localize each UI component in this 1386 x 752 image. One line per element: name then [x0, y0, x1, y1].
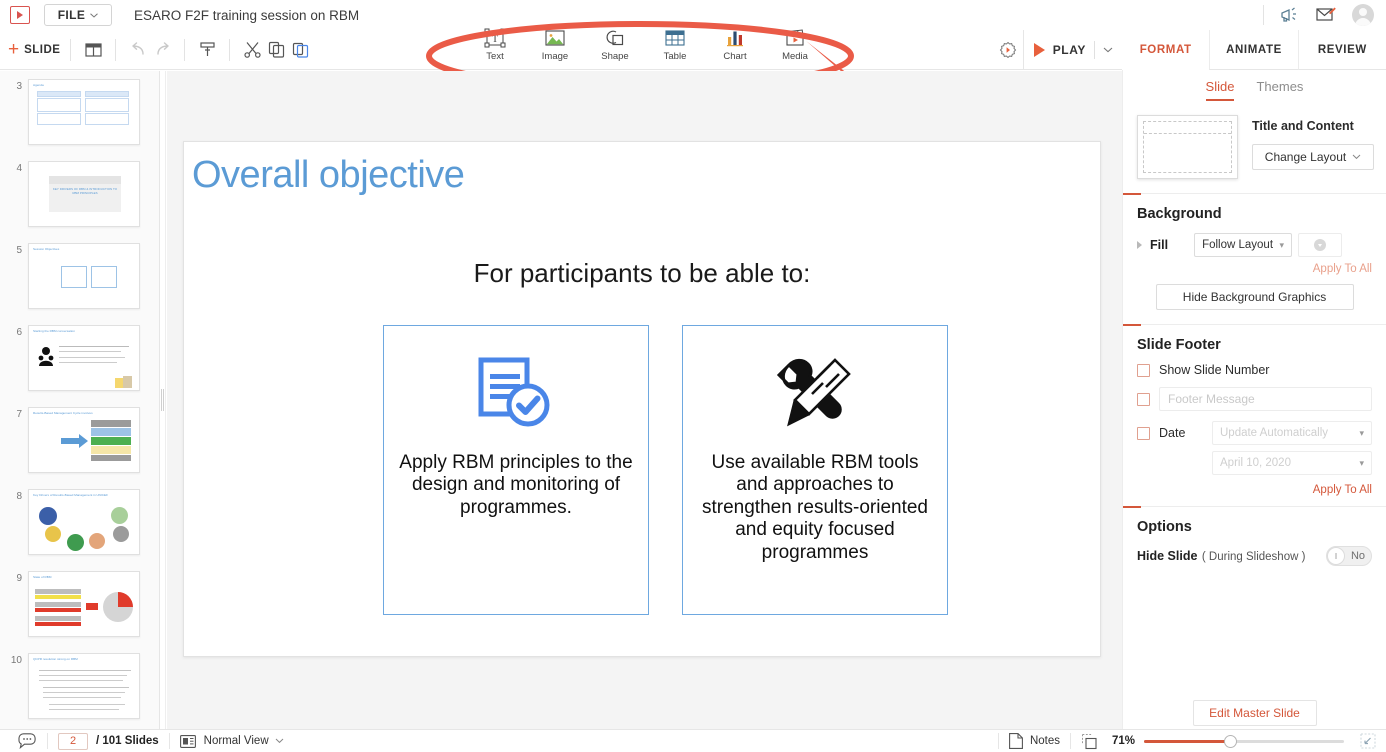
document-check-icon	[475, 350, 557, 442]
slide-layout-icon[interactable]	[81, 38, 105, 62]
hide-slide-label: Hide Slide	[1137, 549, 1197, 563]
options-heading: Options	[1137, 519, 1372, 535]
insert-media-label: Media	[782, 51, 808, 62]
date-mode-value: Update Automatically	[1220, 427, 1328, 439]
date-mode-select[interactable]: Update Automatically ▾	[1212, 421, 1372, 445]
date-value-row: April 10, 2020 ▾	[1137, 451, 1372, 475]
chevron-down-icon	[90, 13, 98, 18]
tab-review-label: REVIEW	[1318, 44, 1367, 56]
list-item[interactable]: 4 KEY DRIVERS OF RBM & INTRODUCTION TO R…	[0, 151, 159, 233]
show-slide-number-label: Show Slide Number	[1159, 363, 1269, 377]
play-triangle-icon	[1034, 43, 1045, 57]
list-item[interactable]: 8 Key Drivers of Results-Based Managemen…	[0, 479, 159, 561]
objective-box-2[interactable]: Use available RBM tools and approaches t…	[682, 325, 948, 615]
objective-box-1[interactable]: Apply RBM principles to the design and m…	[383, 325, 649, 615]
wrench-screwdriver-tools-icon	[773, 350, 857, 442]
panel-subtabs: Slide Themes	[1123, 70, 1386, 101]
zoom-level-label: 71%	[1112, 735, 1144, 747]
slide-thumbnail-8[interactable]: Key Drivers of Results-Based Management …	[28, 489, 140, 555]
envelope-edit-icon[interactable]	[1316, 7, 1336, 23]
hide-background-graphics-button[interactable]: Hide Background Graphics	[1156, 284, 1354, 310]
list-item[interactable]: 5 Session Objectives	[0, 233, 159, 315]
date-row: Date Update Automatically ▾	[1137, 421, 1372, 445]
footer-message-row: Footer Message	[1137, 387, 1372, 411]
text-box-icon: T	[484, 28, 506, 48]
thumb-number: 6	[0, 325, 28, 338]
background-apply-to-all[interactable]: Apply To All	[1137, 263, 1372, 275]
fit-to-window-icon[interactable]	[1081, 733, 1098, 750]
tab-animate[interactable]: ANIMATE	[1209, 30, 1297, 70]
tab-format-label: FORMAT	[1140, 44, 1192, 56]
zoho-show-logo-icon[interactable]	[10, 6, 30, 24]
slide-subtitle[interactable]: For participants to be able to:	[184, 258, 1100, 289]
layout-section: Title and Content Change Layout	[1123, 101, 1386, 179]
view-mode-label[interactable]: Normal View	[204, 735, 269, 747]
play-label: PLAY	[1053, 43, 1086, 57]
thumb-title: KEY DRIVERS OF RBM & INTRODUCTION TO RBM…	[51, 187, 119, 195]
chevron-down-icon: ▾	[1359, 458, 1364, 469]
plus-icon: +	[8, 40, 19, 59]
list-item[interactable]: 9 State of RBM	[0, 561, 159, 643]
thumb-title: QCPR resolution strong on RBM	[33, 657, 78, 661]
subtab-slide[interactable]: Slide	[1206, 79, 1235, 101]
slide-title[interactable]: Overall objective	[192, 154, 464, 197]
footer-apply-to-all[interactable]: Apply To All	[1137, 484, 1372, 496]
insert-image-label: Image	[542, 51, 568, 62]
total-slides-label: / 101 Slides	[96, 735, 159, 747]
avatar[interactable]	[1352, 4, 1374, 26]
toggle-value: No	[1345, 550, 1371, 562]
background-section: Background Fill Follow Layout ▾ Apply To…	[1123, 193, 1386, 310]
shape-icon	[604, 28, 626, 48]
thumb-title: Key Drivers of Results-Based Management …	[33, 493, 108, 497]
slide-canvas[interactable]: Overall objective For participants to be…	[167, 71, 1122, 729]
edit-master-slide-button[interactable]: Edit Master Slide	[1193, 700, 1317, 726]
redo-icon[interactable]	[150, 38, 174, 62]
thumb-number: 8	[0, 489, 28, 502]
thumb-title: Starting the RBM conversation	[33, 329, 75, 333]
insert-chart-label: Chart	[723, 51, 746, 62]
document-title[interactable]: ESARO F2F training session on RBM	[134, 8, 359, 23]
insert-shape-label: Shape	[601, 51, 628, 62]
footer-message-checkbox[interactable]	[1137, 393, 1150, 406]
subtab-themes[interactable]: Themes	[1256, 79, 1303, 101]
play-group: PLAY	[993, 30, 1124, 70]
date-label: Date	[1159, 426, 1203, 440]
list-item[interactable]: 7 Results-Based Management Cycle involve…	[0, 397, 159, 479]
thumb-title: Agenda	[33, 83, 44, 87]
chevron-down-icon[interactable]	[1103, 47, 1113, 53]
layout-name: Title and Content	[1252, 119, 1374, 133]
thumb-number: 7	[0, 407, 28, 420]
color-picker-icon[interactable]	[1298, 233, 1342, 257]
splitter-handle[interactable]	[161, 389, 165, 411]
footer-message-input[interactable]: Footer Message	[1159, 387, 1372, 411]
thumb-title: Session Objectives	[33, 247, 59, 251]
normal-view-icon[interactable]	[180, 735, 196, 748]
notes-page-icon[interactable]	[1009, 733, 1023, 749]
subtab-slide-label: Slide	[1206, 79, 1235, 94]
date-value: April 10, 2020	[1220, 457, 1291, 469]
add-slide-button[interactable]: + SLIDE	[8, 40, 60, 59]
expand-icon[interactable]	[1360, 733, 1376, 749]
notes-label[interactable]: Notes	[1030, 735, 1060, 747]
chevron-down-icon[interactable]	[275, 738, 284, 744]
thumb-number: 3	[0, 79, 28, 92]
clapperboard-icon	[784, 28, 806, 48]
status-bar: 2 / 101 Slides Normal View Notes 71%	[0, 729, 1386, 752]
slide-thumbnail-3[interactable]: Agenda	[28, 79, 140, 145]
current-slide[interactable]: Overall objective For participants to be…	[183, 141, 1101, 657]
file-menu-button[interactable]: FILE	[44, 4, 112, 26]
insert-shape-button[interactable]: Shape	[598, 28, 632, 62]
change-layout-label: Change Layout	[1265, 150, 1346, 164]
hide-slide-toggle[interactable]: ‖ No	[1326, 546, 1372, 566]
list-item[interactable]: 3 Agenda	[0, 71, 159, 151]
toggle-knob: ‖	[1327, 547, 1345, 565]
comment-icon[interactable]	[18, 733, 37, 749]
slide-thumbnail-10[interactable]: QCPR resolution strong on RBM	[28, 653, 140, 719]
add-slide-label: SLIDE	[24, 44, 60, 56]
file-menu-label: FILE	[58, 8, 86, 22]
slide-footer-heading: Slide Footer	[1137, 337, 1372, 353]
zoom-slider-fill	[1144, 740, 1232, 743]
top-bar: FILE ESARO F2F training session on RBM	[0, 0, 1386, 30]
subtab-themes-label: Themes	[1256, 79, 1303, 94]
thumb-number: 4	[0, 161, 28, 174]
objective-box-2-text: Use available RBM tools and approaches t…	[683, 452, 947, 564]
format-panel: Slide Themes Title and Content Change La…	[1122, 70, 1386, 752]
slide-thumbnail-5[interactable]: Session Objectives	[28, 243, 140, 309]
slide-thumbnail-7[interactable]: Results-Based Management Cycle involves	[28, 407, 140, 473]
insert-image-button[interactable]: Image	[538, 28, 572, 62]
thumb-title: Results-Based Management Cycle involves	[33, 411, 93, 415]
slide-thumbnail-panel[interactable]: 3 Agenda 4 KEY DRIVERS OF RBM & INTRODUC…	[0, 71, 160, 729]
insert-tools-group: T Text Image Shape	[478, 28, 812, 62]
fill-value: Follow Layout	[1202, 239, 1273, 251]
chevron-down-icon: ▾	[1359, 428, 1364, 439]
insert-chart-button[interactable]: Chart	[718, 28, 752, 62]
table-icon	[664, 28, 686, 48]
change-layout-button[interactable]: Change Layout	[1252, 144, 1374, 170]
expand-triangle-icon[interactable]	[1137, 241, 1142, 249]
divider	[1263, 5, 1264, 25]
insert-table-button[interactable]: Table	[658, 28, 692, 62]
play-button[interactable]: PLAY	[1023, 30, 1124, 70]
undo-icon[interactable]	[126, 38, 150, 62]
list-item[interactable]: 6 Starting the RBM conversation	[0, 315, 159, 397]
insert-text-button[interactable]: T Text	[478, 28, 512, 62]
date-checkbox[interactable]	[1137, 427, 1150, 440]
svg-text:T: T	[492, 34, 498, 45]
current-page-input[interactable]: 2	[58, 733, 88, 750]
background-heading: Background	[1137, 206, 1372, 222]
slide-footer-section: Slide Footer Show Slide Number Footer Me…	[1123, 324, 1386, 496]
hide-slide-note: ( During Slideshow )	[1202, 551, 1306, 563]
panel-splitter[interactable]	[160, 71, 166, 729]
chevron-down-icon: ▾	[1280, 240, 1285, 251]
insert-text-label: Text	[486, 51, 503, 62]
show-slide-number-row: Show Slide Number	[1137, 363, 1372, 377]
top-right-actions	[1263, 4, 1386, 26]
objective-box-1-text: Apply RBM principles to the design and m…	[384, 452, 648, 519]
thumb-number: 9	[0, 571, 28, 584]
layout-preview-thumbnail[interactable]	[1137, 115, 1238, 179]
gear-icon[interactable]	[993, 35, 1023, 65]
fill-label: Fill	[1150, 238, 1168, 252]
megaphone-icon[interactable]	[1280, 6, 1300, 24]
zoom-slider[interactable]	[1144, 740, 1344, 743]
thumb-number: 10	[0, 653, 28, 666]
insert-media-button[interactable]: Media	[778, 28, 812, 62]
bar-chart-icon	[724, 28, 746, 48]
slide-thumbnail-6[interactable]: Starting the RBM conversation	[28, 325, 140, 391]
paste-icon[interactable]	[288, 38, 312, 62]
zoom-slider-knob[interactable]	[1224, 735, 1237, 748]
thumb-number: 5	[0, 243, 28, 256]
copy-icon[interactable]	[264, 38, 288, 62]
format-painter-icon[interactable]	[195, 38, 219, 62]
date-value-select[interactable]: April 10, 2020 ▾	[1212, 451, 1372, 475]
slide-thumbnail-9[interactable]: State of RBM	[28, 571, 140, 637]
tab-review[interactable]: REVIEW	[1298, 30, 1386, 70]
ribbon-tabs: FORMAT ANIMATE REVIEW	[1122, 30, 1386, 70]
fill-select[interactable]: Follow Layout ▾	[1194, 233, 1292, 257]
hide-slide-row: Hide Slide ( During Slideshow ) ‖ No	[1137, 546, 1372, 566]
tab-format[interactable]: FORMAT	[1122, 30, 1209, 70]
show-slide-number-checkbox[interactable]	[1137, 364, 1150, 377]
image-icon	[544, 28, 566, 48]
options-section: Options Hide Slide ( During Slideshow ) …	[1123, 506, 1386, 566]
tab-animate-label: ANIMATE	[1226, 44, 1282, 56]
list-item[interactable]: 10 QCPR resolution strong on RBM	[0, 643, 159, 725]
fill-row: Fill Follow Layout ▾	[1137, 233, 1372, 257]
slide-thumbnail-4[interactable]: KEY DRIVERS OF RBM & INTRODUCTION TO RBM…	[28, 161, 140, 227]
scissors-icon[interactable]	[240, 38, 264, 62]
thumb-title: State of RBM	[33, 575, 51, 579]
chevron-down-icon	[1352, 154, 1361, 160]
insert-table-label: Table	[664, 51, 687, 62]
